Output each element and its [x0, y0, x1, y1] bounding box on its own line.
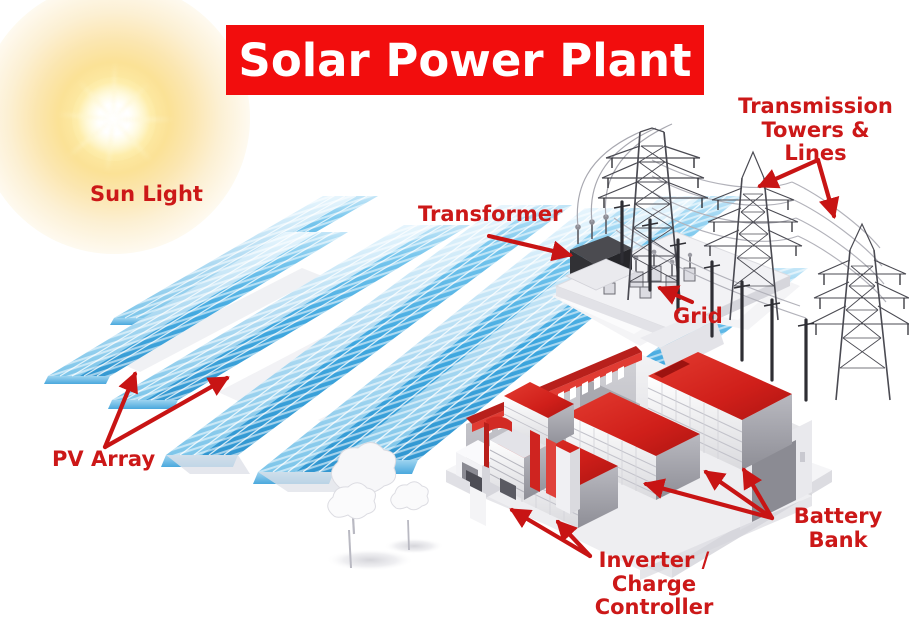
- label-grid: Grid: [673, 305, 723, 329]
- label-transformer: Transformer: [418, 203, 562, 227]
- label-sun-light: Sun Light: [90, 183, 203, 207]
- title-banner: Solar Power Plant: [226, 25, 704, 95]
- label-transmission-towers-lines: Transmission Towers & Lines: [728, 95, 903, 166]
- solar-power-plant-diagram: Solar Power Plant Sun Light Transmission…: [0, 0, 909, 618]
- label-battery-bank: Battery Bank: [778, 505, 898, 552]
- label-inverter-charge-controller: Inverter / Charge Controller: [551, 549, 757, 618]
- page-title: Solar Power Plant: [238, 38, 691, 83]
- label-pv-array: PV Array: [52, 448, 155, 472]
- trees: [326, 442, 444, 571]
